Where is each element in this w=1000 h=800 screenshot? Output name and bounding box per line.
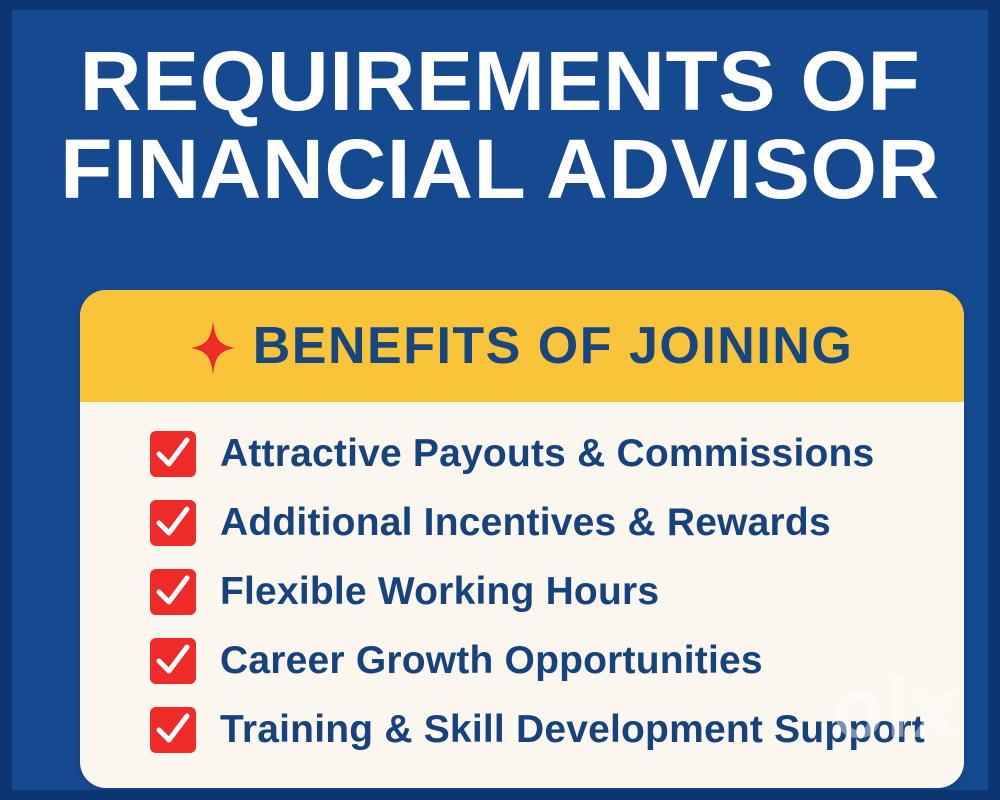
list-item: Additional Incentives & Rewards: [150, 497, 964, 549]
list-item: Training & Skill Development Support: [150, 704, 964, 756]
list-item: Career Growth Opportunities: [150, 635, 964, 687]
sparkle-icon: [191, 321, 235, 375]
checkbox-checked-icon: [150, 707, 196, 753]
list-item: Flexible Working Hours: [150, 566, 964, 618]
list-item: Attractive Payouts & Commissions: [150, 428, 964, 480]
poster: REQUIREMENTS OF FINANCIAL ADVISOR BENEFI…: [0, 0, 1000, 800]
checkbox-checked-icon: [150, 569, 196, 615]
checkbox-checked-icon: [150, 431, 196, 477]
benefit-label: Additional Incentives & Rewards: [220, 501, 831, 545]
benefit-label: Training & Skill Development Support: [220, 708, 925, 752]
headline-line-2: FINANCIAL ADVISOR: [2, 128, 998, 210]
headline-line-1: REQUIREMENTS OF: [2, 40, 998, 122]
benefits-card-header: BENEFITS OF JOINING: [80, 290, 964, 402]
benefits-list: Attractive Payouts & Commissions Additio…: [80, 402, 964, 756]
benefit-label: Flexible Working Hours: [220, 570, 659, 614]
benefits-card: BENEFITS OF JOINING Attractive Payouts &…: [80, 290, 964, 788]
benefits-card-title: BENEFITS OF JOINING: [253, 316, 854, 376]
checkbox-checked-icon: [150, 638, 196, 684]
checkbox-checked-icon: [150, 500, 196, 546]
page-title: REQUIREMENTS OF FINANCIAL ADVISOR: [12, 10, 988, 211]
benefit-label: Career Growth Opportunities: [220, 639, 763, 683]
benefit-label: Attractive Payouts & Commissions: [220, 432, 874, 476]
